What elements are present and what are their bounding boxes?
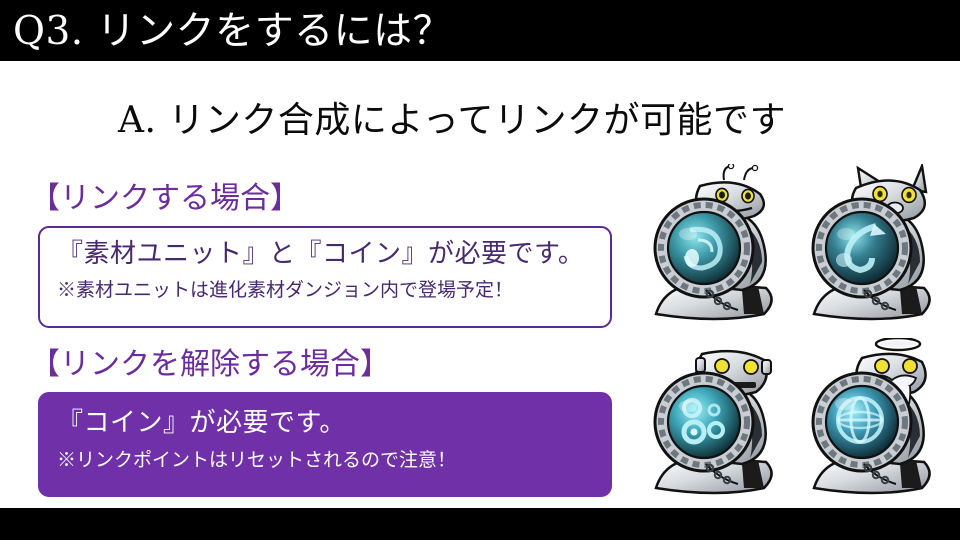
creature-mechanical-snail-robot-sage [796,338,956,508]
answer-headline: A. リンク合成によってリンクが可能です [118,98,786,144]
bottom-letterbox-band [0,508,960,540]
slide-canvas: Q3. リンクをするには？ A. リンク合成によってリンクが可能です 【リンクす… [0,0,960,540]
creature-mechanical-snail-robot-gear [638,338,798,508]
page-title: Q3. リンクをするには？ [13,8,452,55]
section-heading-link: 【リンクする場合】 [30,181,300,217]
info-box-link: 『素材ユニット』と『コイン』が必要です。 ※素材ユニットは進化素材ダンジョン内で… [38,226,612,328]
info-box-unlink-note: ※リンクポイントはリセットされるので注意！ [57,446,456,474]
info-box-link-note: ※素材ユニットは進化素材ダンジョン内で登場予定！ [57,276,513,304]
info-box-unlink: 『コイン』が必要です。 ※リンクポイントはリセットされるので注意！ [38,392,612,497]
info-box-link-main: 『素材ユニット』と『コイン』が必要です。 [57,236,584,272]
section-heading-unlink: 【リンクを解除する場合】 [30,347,390,383]
creature-mechanical-snail-robot-antenna [638,164,798,334]
info-box-unlink-main: 『コイン』が必要です。 [57,405,346,441]
creature-mechanical-snail-robot-cat [796,164,956,334]
title-band: Q3. リンクをするには？ [0,0,960,61]
creature-illustration-grid [636,164,960,508]
